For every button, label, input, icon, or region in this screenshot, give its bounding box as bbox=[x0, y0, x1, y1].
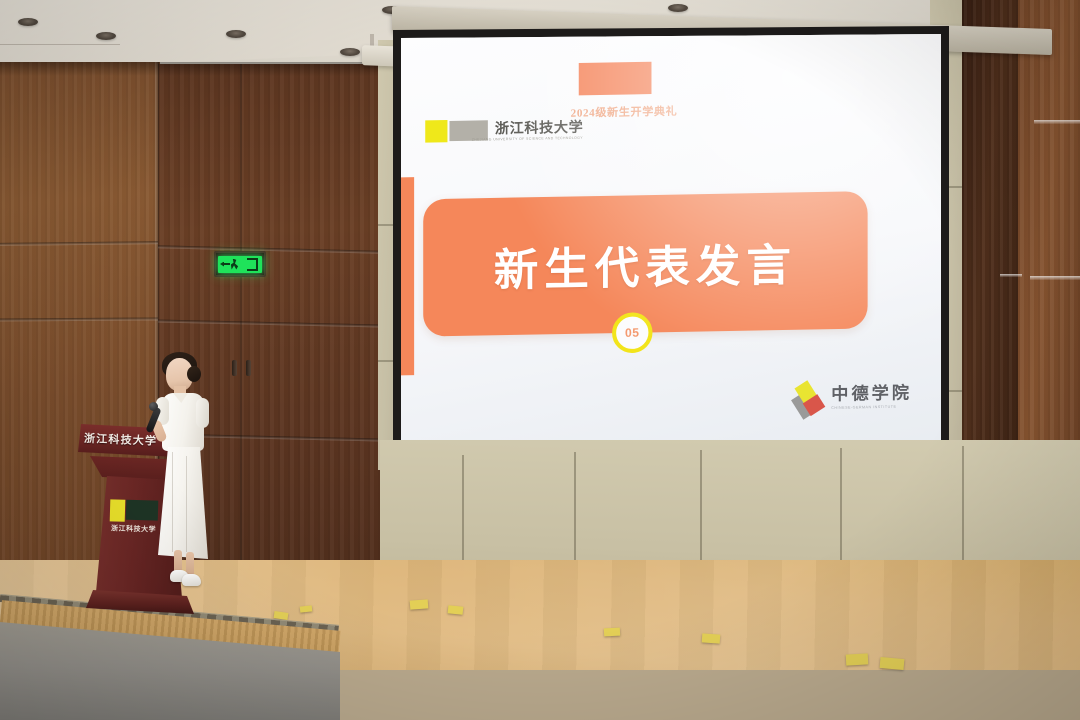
wall-top-shadow bbox=[0, 62, 380, 76]
speaker-hair-bun bbox=[187, 366, 201, 382]
ceiling-seam bbox=[0, 44, 120, 45]
floor-marker bbox=[702, 633, 721, 643]
floor-marker bbox=[846, 653, 869, 665]
door-handle-icon[interactable] bbox=[232, 360, 237, 376]
plaque-yellow-square bbox=[110, 499, 125, 521]
floor-marker bbox=[880, 657, 905, 670]
exit-door-icon bbox=[247, 258, 258, 271]
slide-header-block bbox=[579, 62, 652, 96]
skirt-fold bbox=[186, 456, 187, 552]
emergency-exit-sign bbox=[214, 251, 266, 277]
column-light-strip bbox=[1000, 274, 1022, 277]
speaker-person bbox=[150, 352, 220, 604]
ceiling-downlight bbox=[340, 48, 360, 56]
floor-marker bbox=[604, 628, 620, 637]
slide-event-header: 2024级新生开学典礼 bbox=[571, 103, 678, 121]
speaker-skirt bbox=[158, 447, 208, 559]
speaker-shoe bbox=[182, 574, 201, 586]
college-logo: 中德学院 CHINESE-GERMAN INSTITUTE bbox=[793, 380, 912, 415]
column-light-strip bbox=[1030, 276, 1080, 280]
ceiling-downlight bbox=[668, 4, 688, 12]
logo-yellow-square bbox=[425, 120, 447, 143]
projection-screen-surface: 浙江科技大学 ZHEJIANG UNIVERSITY OF SCIENCE AN… bbox=[401, 34, 941, 458]
floor-marker bbox=[300, 605, 313, 612]
wall-groove bbox=[240, 64, 242, 620]
presentation-slide: 浙江科技大学 ZHEJIANG UNIVERSITY OF SCIENCE AN… bbox=[401, 34, 941, 458]
skirt-fold bbox=[172, 452, 173, 552]
exit-arrow-icon bbox=[220, 262, 230, 267]
slide-section-number: 05 bbox=[625, 326, 640, 340]
slide-accent-bar bbox=[401, 177, 414, 375]
column-light-strip bbox=[1034, 120, 1080, 124]
slide-title-card: 新生代表发言 bbox=[423, 191, 867, 337]
microphone-head-icon bbox=[149, 402, 158, 411]
floor-marker bbox=[410, 599, 429, 609]
ceiling-downlight bbox=[18, 18, 38, 26]
slide-title: 新生代表发言 bbox=[494, 229, 797, 299]
college-name: 中德学院 bbox=[831, 384, 912, 403]
auditorium-scene: 浙江科技大学 ZHEJIANG UNIVERSITY OF SCIENCE AN… bbox=[0, 0, 1080, 720]
speaker-sleeve-right bbox=[196, 398, 209, 428]
college-logo-mark-icon bbox=[787, 376, 832, 421]
ceiling-downlight bbox=[96, 32, 116, 40]
running-person-icon bbox=[230, 259, 239, 270]
exit-sign-face bbox=[218, 256, 262, 273]
college-name-subtitle: CHINESE-GERMAN INSTITUTE bbox=[831, 404, 912, 410]
ceiling-downlight bbox=[226, 30, 246, 38]
floor-marker bbox=[448, 605, 464, 615]
door-handle-icon[interactable] bbox=[246, 360, 251, 376]
